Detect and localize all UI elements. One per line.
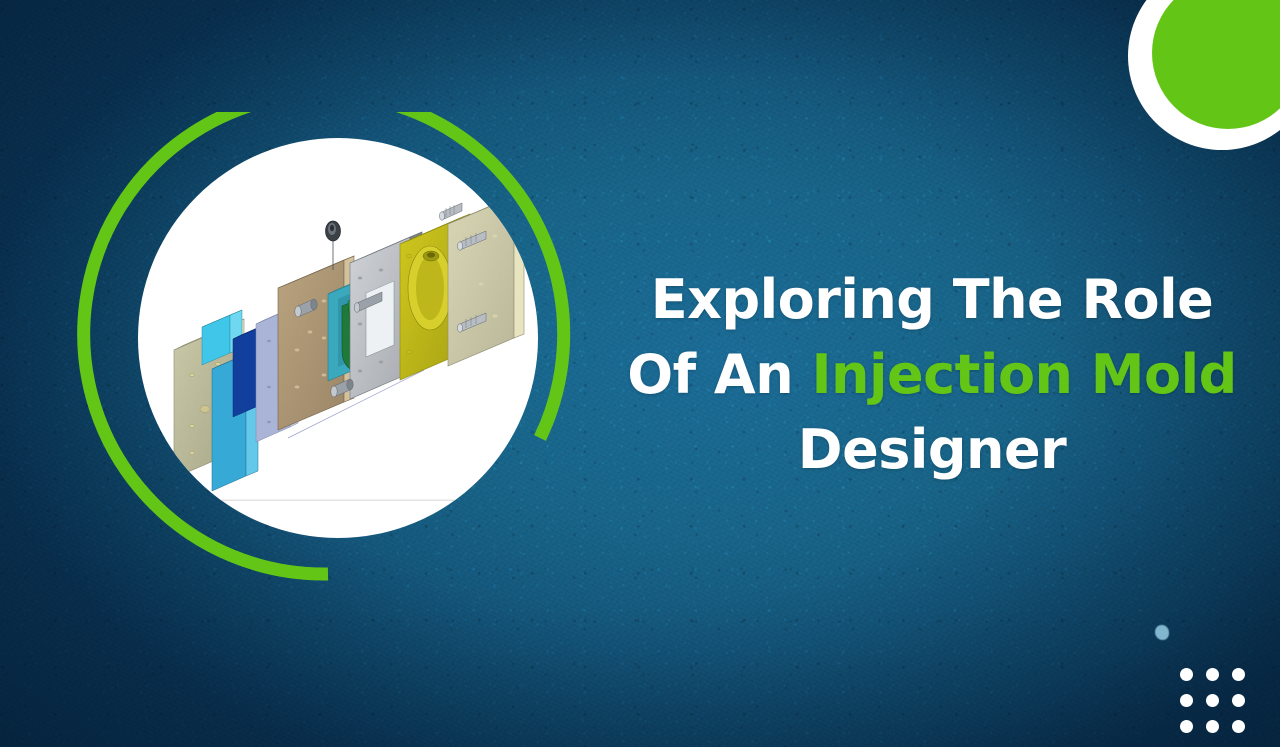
promo-banner: Exploring The Role Of An Injection Mold … xyxy=(0,0,1280,747)
headline-line-1: Exploring The Role xyxy=(620,262,1244,337)
hero-image-circle xyxy=(138,138,538,538)
grid-dot xyxy=(1206,668,1219,681)
injection-mold-exploded-diagram xyxy=(138,138,538,538)
grid-dot xyxy=(1180,694,1193,707)
grid-dot xyxy=(1232,668,1245,681)
grid-dot xyxy=(1232,694,1245,707)
headline-line-2-accent: Injection Mold xyxy=(811,343,1236,406)
background-speck xyxy=(1155,625,1169,640)
grid-dot xyxy=(1180,720,1193,733)
headline-line-2-plain: Of An xyxy=(627,343,811,406)
dot-grid-decoration xyxy=(1180,668,1245,733)
hero-image-block xyxy=(62,112,592,642)
headline-line-3: Designer xyxy=(620,412,1244,487)
grid-dot xyxy=(1180,668,1193,681)
grid-dot xyxy=(1232,720,1245,733)
grid-dot xyxy=(1206,720,1219,733)
page-title: Exploring The Role Of An Injection Mold … xyxy=(620,262,1244,487)
grid-dot xyxy=(1206,694,1219,707)
image-baseline xyxy=(138,500,538,501)
headline-line-2: Of An Injection Mold xyxy=(620,337,1244,412)
